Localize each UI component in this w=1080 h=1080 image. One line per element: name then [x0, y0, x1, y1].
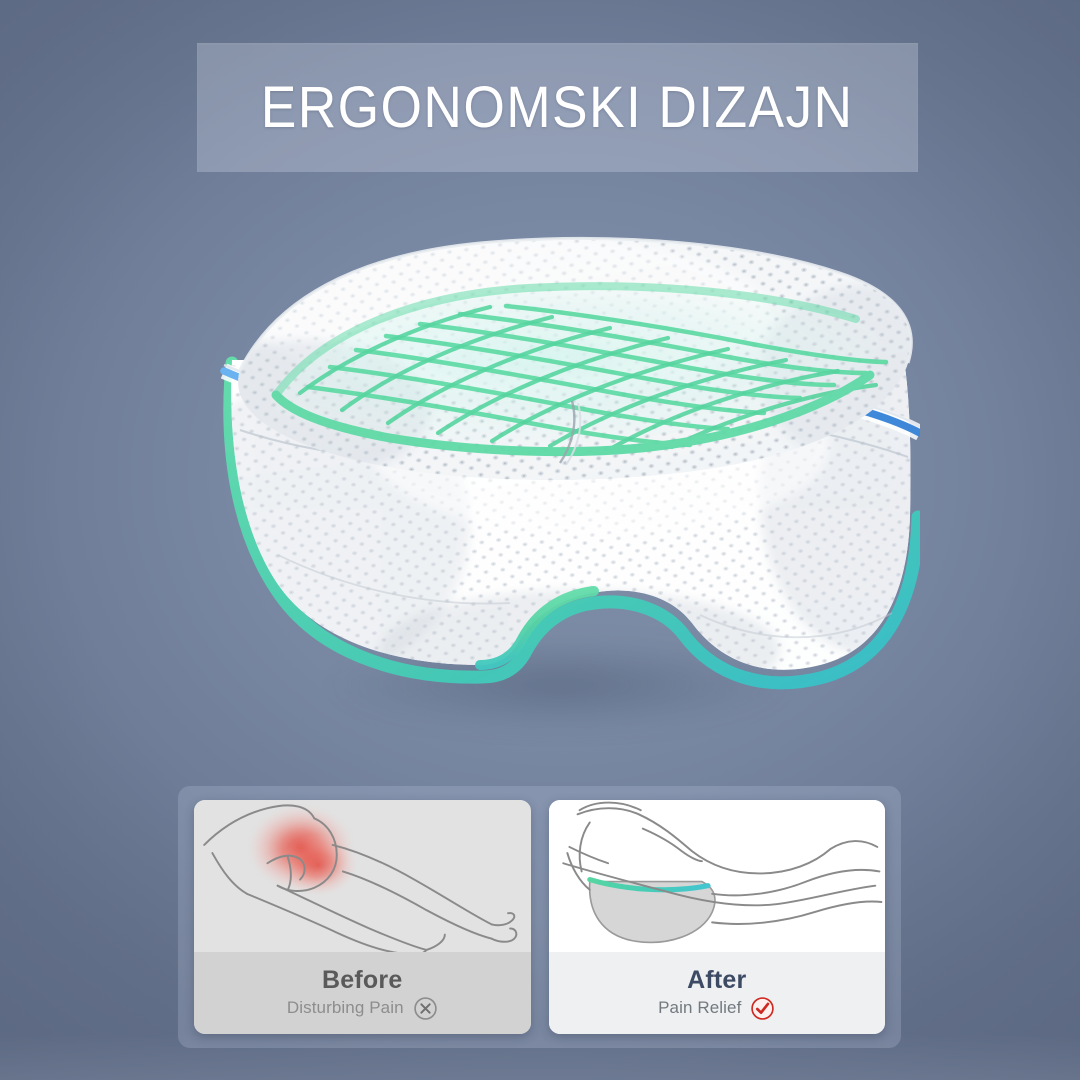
check-mark-icon: [750, 996, 775, 1021]
x-mark-icon: [413, 996, 438, 1021]
before-title: Before: [322, 966, 402, 995]
legs-knees-touching-icon: [194, 800, 531, 952]
after-illustration: [549, 800, 886, 952]
after-subtitle-row: Pain Relief: [658, 996, 775, 1021]
before-subtitle: Disturbing Pain: [287, 998, 404, 1018]
card-before[interactable]: Before Disturbing Pain: [194, 800, 531, 1034]
legs-with-pillow-icon: [549, 800, 886, 952]
after-caption: After Pain Relief: [549, 952, 886, 1034]
memory-foam-pillow-illustration: [180, 195, 920, 775]
before-subtitle-row: Disturbing Pain: [287, 996, 438, 1021]
product-image: [180, 195, 920, 775]
page-title: ERGONOMSKI DIZAJN: [261, 74, 854, 141]
comparison-cards: Before Disturbing Pain: [178, 786, 901, 1048]
after-subtitle: Pain Relief: [658, 998, 741, 1018]
title-banner: ERGONOMSKI DIZAJN: [197, 43, 918, 172]
before-illustration: [194, 800, 531, 952]
before-caption: Before Disturbing Pain: [194, 952, 531, 1034]
after-title: After: [687, 966, 746, 995]
card-after[interactable]: After Pain Relief: [549, 800, 886, 1034]
